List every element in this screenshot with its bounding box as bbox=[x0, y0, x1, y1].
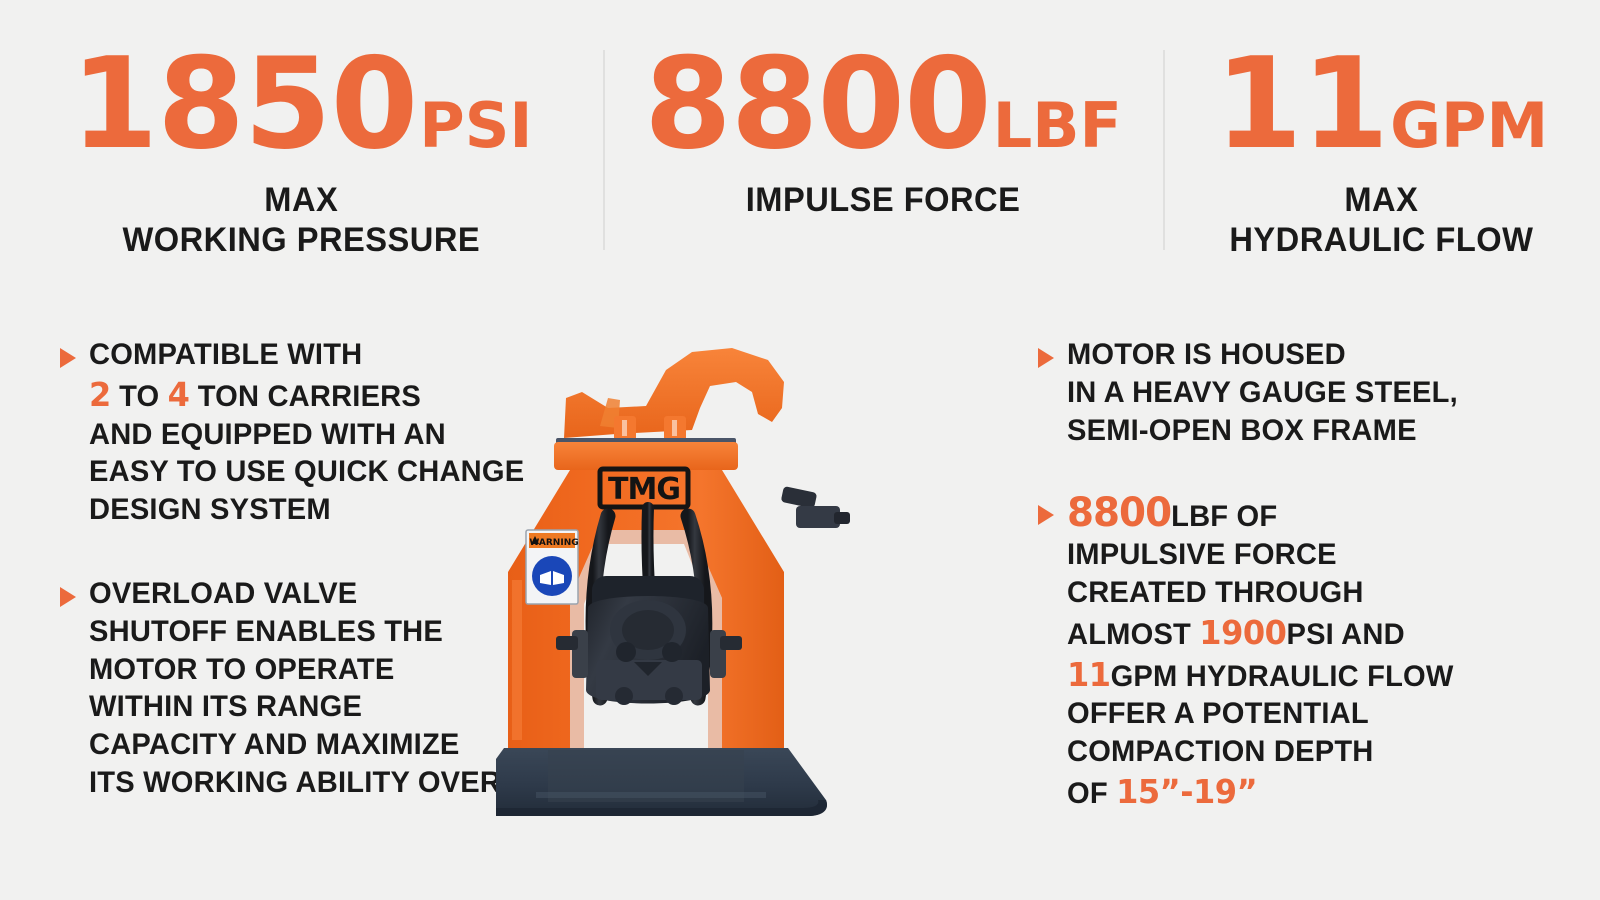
text-run: LBF OF bbox=[1171, 500, 1277, 533]
infographic-page: 1850PSI MAX WORKING PRESSURE 8800LBF IMP… bbox=[0, 0, 1600, 900]
stats-band: 1850PSI MAX WORKING PRESSURE 8800LBF IMP… bbox=[0, 0, 1600, 300]
text-run: TON CARRIERS bbox=[189, 380, 421, 413]
stat-impulse-force: 8800LBF IMPULSE FORCE bbox=[603, 0, 1163, 220]
right-bullet-1: MOTOR IS HOUSEDIN A HEAVY GAUGE STEEL,SE… bbox=[1036, 336, 1556, 449]
text-run: PSI AND bbox=[1286, 618, 1404, 651]
text-run: OVERLOAD VALVE bbox=[89, 577, 357, 610]
bullet-line: CREATED THROUGH bbox=[1067, 574, 1454, 612]
bullet-line: COMPATIBLE WITH bbox=[89, 336, 524, 374]
stat-caption-line-2: WORKING PRESSURE bbox=[123, 220, 481, 260]
feature-list-right: MOTOR IS HOUSEDIN A HEAVY GAUGE STEEL,SE… bbox=[1036, 336, 1556, 813]
stat-unit: PSI bbox=[419, 97, 532, 154]
text-run: OF bbox=[1067, 777, 1116, 810]
right-bullet-2: 8800LBF OFIMPULSIVE FORCECREATED THROUGH… bbox=[1036, 493, 1556, 812]
bullet-line: OFFER A POTENTIAL bbox=[1067, 695, 1454, 733]
text-run: COMPACTION DEPTH bbox=[1067, 735, 1374, 768]
base-compaction-plate bbox=[496, 748, 827, 816]
bullet-arrow-icon bbox=[58, 346, 78, 375]
stat-max-working-pressure: 1850PSI MAX WORKING PRESSURE bbox=[0, 0, 603, 260]
stat-number: 11 bbox=[1215, 46, 1388, 162]
text-run: EASY TO USE QUICK CHANGE bbox=[89, 455, 524, 488]
text-run: IMPULSIVE FORCE bbox=[1067, 538, 1337, 571]
bullet-line: IN A HEAVY GAUGE STEEL, bbox=[1067, 374, 1458, 412]
hydraulic-motor-unit bbox=[586, 576, 710, 705]
compactor-illustration: TMG WARNING bbox=[496, 330, 1056, 830]
bullet-line: 11GPM HYDRAULIC FLOW bbox=[1067, 654, 1454, 696]
tmg-badge-label: TMG bbox=[608, 472, 680, 507]
text-run: WITHIN ITS RANGE bbox=[89, 690, 362, 723]
stat-caption-line-1: MAX bbox=[1229, 180, 1533, 220]
highlight-value: 1900 bbox=[1199, 613, 1286, 652]
bullet-line: OF 15”-19” bbox=[1067, 771, 1454, 813]
stat-divider-1 bbox=[603, 50, 605, 250]
stat-value: 1850PSI bbox=[71, 46, 533, 162]
right-bullet-text: 8800LBF OFIMPULSIVE FORCECREATED THROUGH… bbox=[1067, 493, 1454, 812]
stat-caption-line-1: IMPULSE FORCE bbox=[746, 180, 1021, 220]
bullet-line: DESIGN SYSTEM bbox=[89, 491, 524, 529]
text-run: MOTOR TO OPERATE bbox=[89, 653, 394, 686]
highlight-value: 8800 bbox=[1067, 490, 1171, 536]
bullet-line: AND EQUIPPED WITH AN bbox=[89, 416, 524, 454]
stat-unit: GPM bbox=[1390, 97, 1548, 154]
bullet-line: 8800LBF OF bbox=[1067, 493, 1454, 536]
text-run: SEMI-OPEN BOX FRAME bbox=[1067, 414, 1417, 447]
highlight-value: 11 bbox=[1067, 655, 1111, 694]
text-run: CREATED THROUGH bbox=[1067, 576, 1364, 609]
text-run: OFFER A POTENTIAL bbox=[1067, 697, 1369, 730]
stat-caption: MAX HYDRAULIC FLOW bbox=[1229, 180, 1533, 260]
bullet-line: IMPULSIVE FORCE bbox=[1067, 536, 1454, 574]
stat-unit: LBF bbox=[993, 97, 1122, 154]
warning-label-text: WARNING bbox=[529, 538, 578, 548]
text-run: MOTOR IS HOUSED bbox=[1067, 338, 1346, 371]
stat-caption-line-1: MAX bbox=[123, 180, 481, 220]
highlight-value: 2 bbox=[89, 375, 111, 414]
bullet-line: MOTOR IS HOUSED bbox=[1067, 336, 1458, 374]
left-bullet-text: COMPATIBLE WITH2 TO 4 TON CARRIERSAND EQ… bbox=[89, 336, 524, 529]
bullet-line: COMPACTION DEPTH bbox=[1067, 733, 1454, 771]
bullet-arrow-icon bbox=[58, 585, 78, 614]
text-run: COMPATIBLE WITH bbox=[89, 338, 362, 371]
hydraulic-port-right bbox=[781, 486, 850, 528]
text-run: AND EQUIPPED WITH AN bbox=[89, 418, 446, 451]
bullet-line: ALMOST 1900PSI AND bbox=[1067, 612, 1454, 654]
stat-divider-2 bbox=[1163, 50, 1165, 250]
product-image-plate-compactor: TMG WARNING bbox=[496, 330, 1056, 830]
right-bullet-text: MOTOR IS HOUSEDIN A HEAVY GAUGE STEEL,SE… bbox=[1067, 336, 1458, 449]
top-housing bbox=[554, 442, 738, 470]
stat-number: 8800 bbox=[644, 46, 991, 162]
highlight-value: 4 bbox=[168, 375, 190, 414]
stat-value: 11GPM bbox=[1215, 46, 1548, 162]
frame-highlight bbox=[512, 580, 522, 740]
stat-caption-line-2: HYDRAULIC FLOW bbox=[1229, 220, 1533, 260]
stat-value: 8800LBF bbox=[644, 46, 1122, 162]
text-run: GPM HYDRAULIC FLOW bbox=[1111, 660, 1454, 693]
bullet-line: 2 TO 4 TON CARRIERS bbox=[89, 374, 524, 416]
bullet-line: SEMI-OPEN BOX FRAME bbox=[1067, 412, 1458, 450]
text-run: IN A HEAVY GAUGE STEEL, bbox=[1067, 376, 1458, 409]
bullet-line: EASY TO USE QUICK CHANGE bbox=[89, 453, 524, 491]
text-run: DESIGN SYSTEM bbox=[89, 493, 331, 526]
text-run: ALMOST bbox=[1067, 618, 1199, 651]
text-run: TO bbox=[111, 380, 168, 413]
warning-sticker: WARNING bbox=[526, 530, 579, 604]
stat-caption: IMPULSE FORCE bbox=[746, 180, 1021, 220]
tmg-brand-badge: TMG bbox=[600, 469, 688, 507]
text-run: SHUTOFF ENABLES THE bbox=[89, 615, 443, 648]
stat-max-hydraulic-flow: 11GPM MAX HYDRAULIC FLOW bbox=[1163, 0, 1600, 260]
text-run: CAPACITY AND MAXIMIZE bbox=[89, 728, 460, 761]
stat-number: 1850 bbox=[71, 46, 418, 162]
highlight-value: 15”-19” bbox=[1116, 772, 1257, 811]
stat-caption: MAX WORKING PRESSURE bbox=[123, 180, 481, 260]
